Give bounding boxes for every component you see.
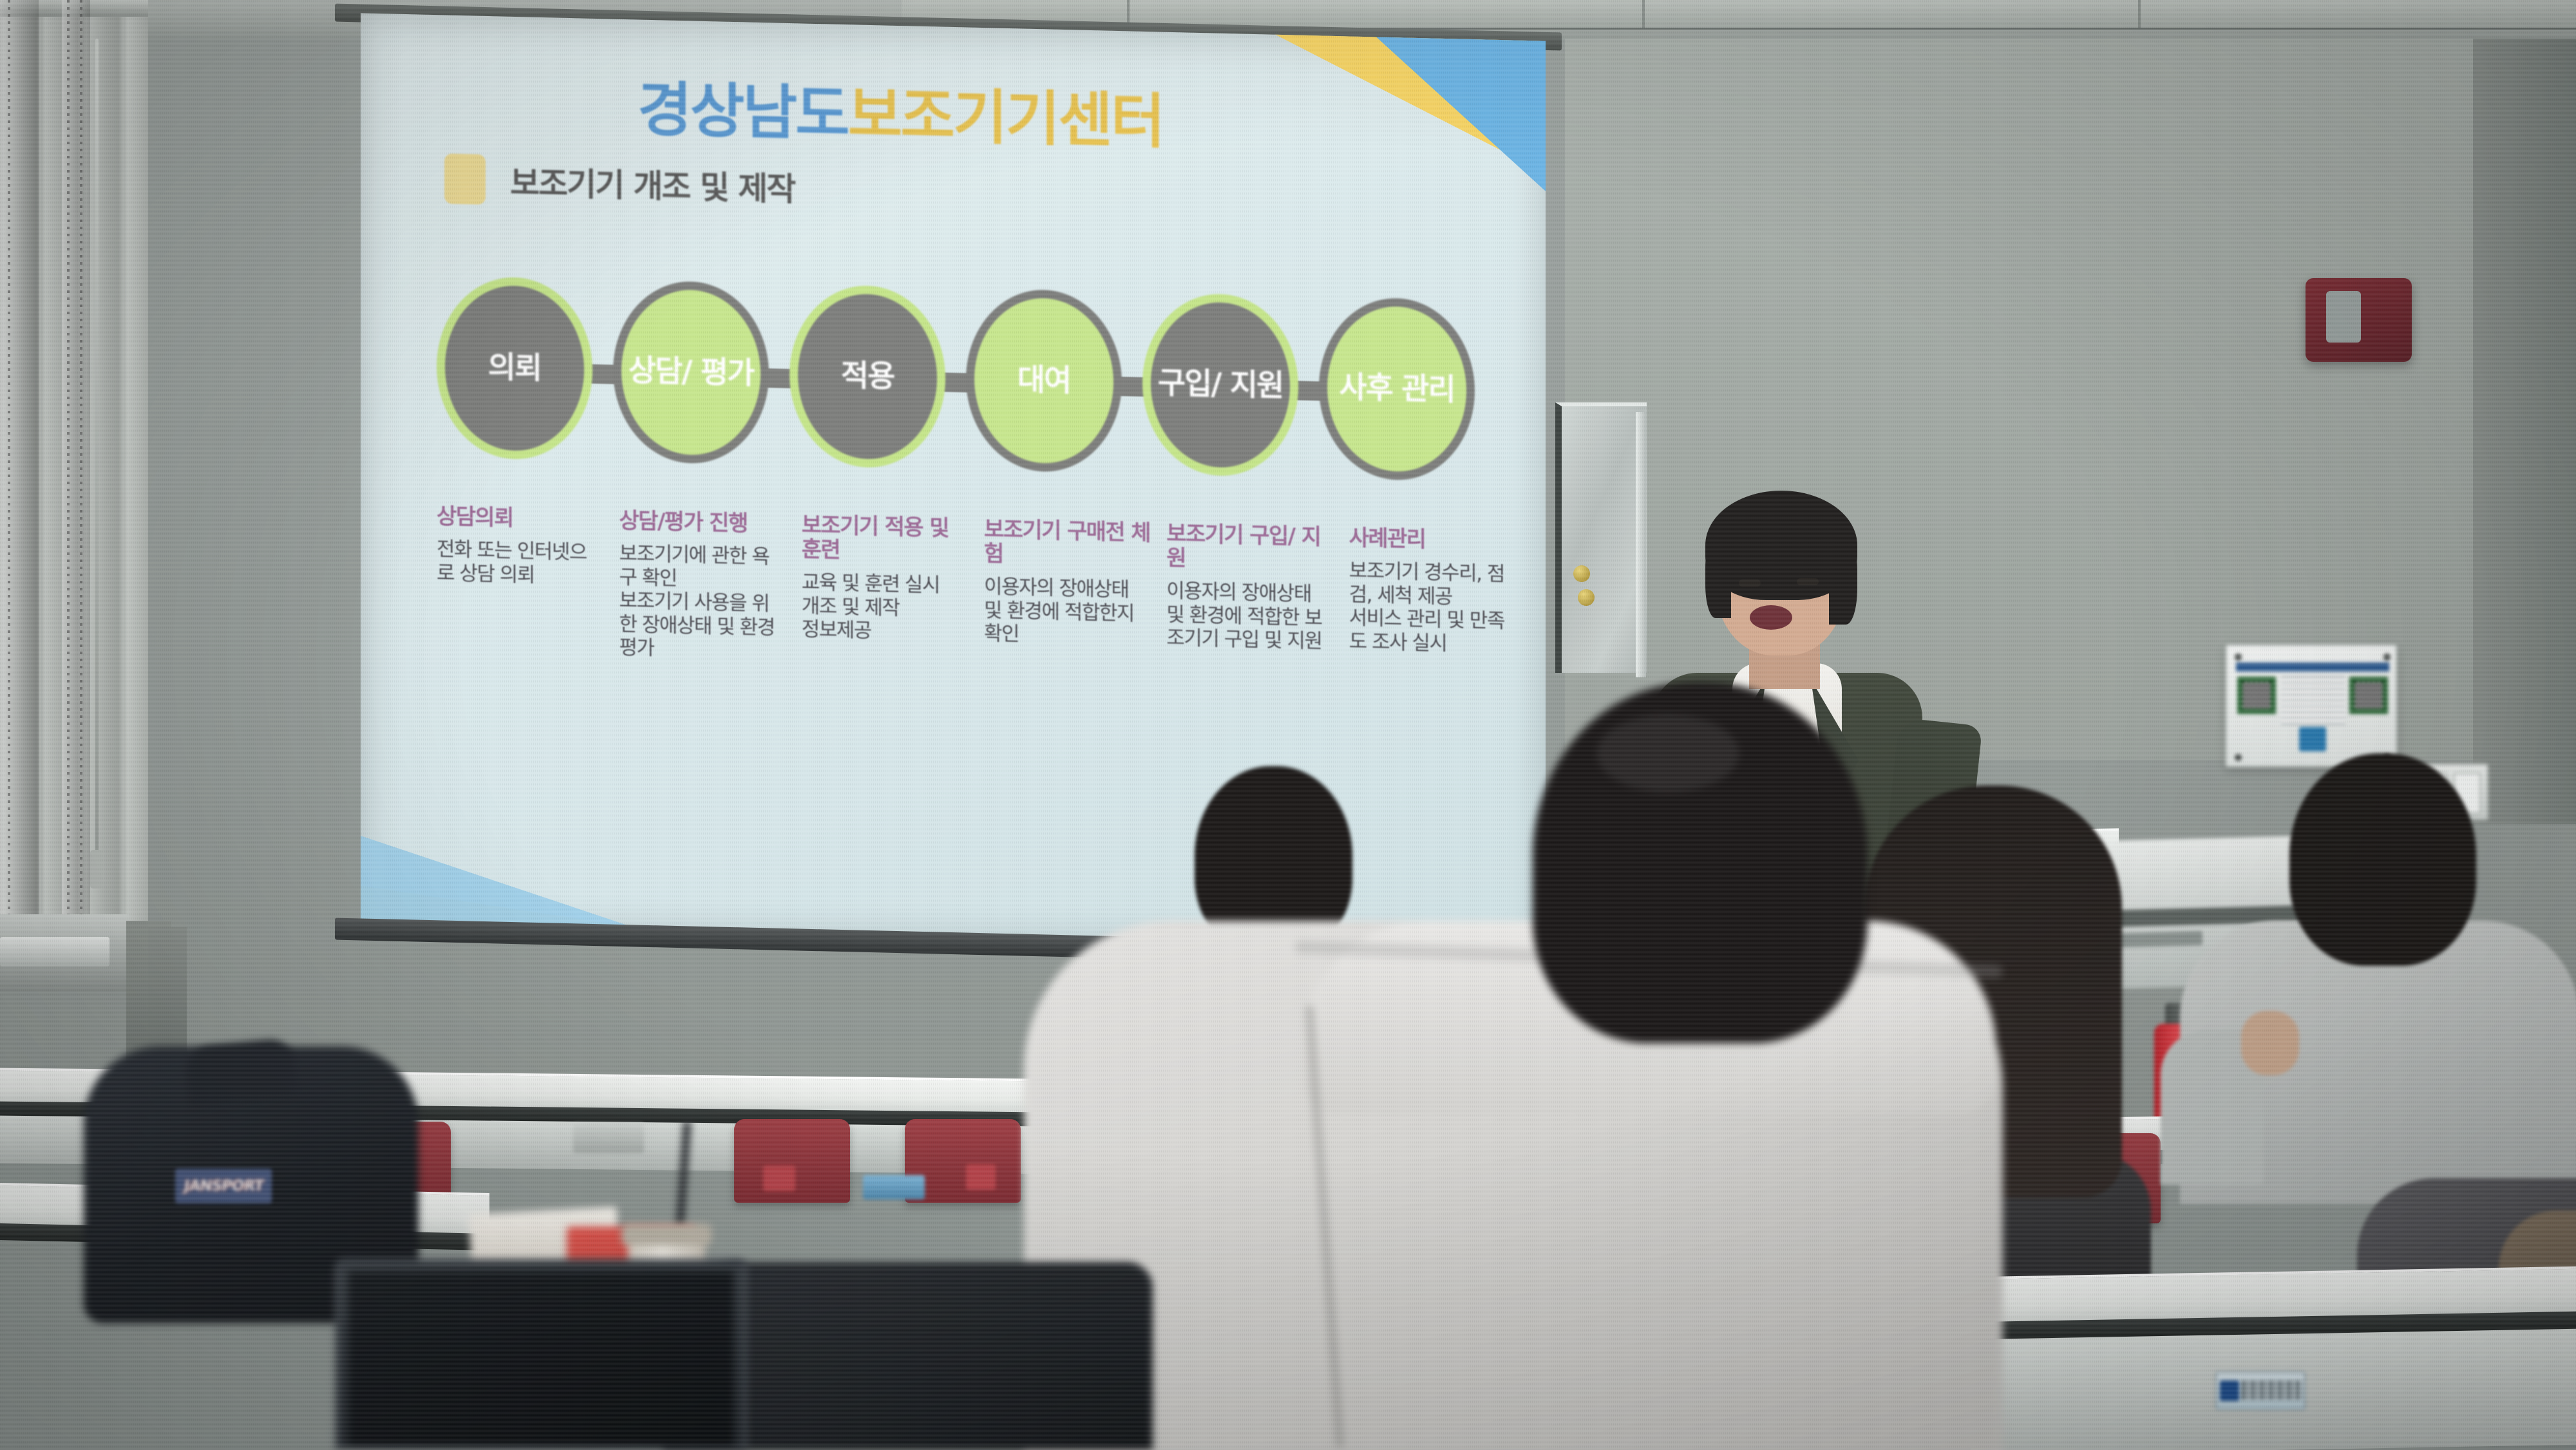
backpack-brand-text: JANSPORT <box>183 1178 264 1194</box>
barcode-icon <box>2242 1380 2302 1400</box>
column-body: 보조기기 경수리, 점 검, 세척 제공 서비스 관리 및 만족 도 조사 실시 <box>1349 560 1520 658</box>
sign-logo-icon <box>2299 727 2326 751</box>
slide-detail-columns: 상담의뢰 전화 또는 인터넷으 로 상담 의뢰 상담/평가 진행 보조기기에 관… <box>437 504 1531 681</box>
qr-code-icon <box>2349 677 2388 714</box>
qr-code-icon <box>2237 677 2276 714</box>
pen-tray[interactable] <box>573 1124 644 1153</box>
blind-pull-cord[interactable] <box>95 39 99 869</box>
detail-column: 사례관리 보조기기 경수리, 점 검, 세척 제공 서비스 관리 및 만족 도 … <box>1349 525 1531 681</box>
bullet-square-icon <box>444 153 486 205</box>
slide-title-center: 보조기기센터 <box>848 80 1164 156</box>
door-knob[interactable] <box>1578 589 1595 606</box>
detail-column: 상담의뢰 전화 또는 인터넷으 로 상담 의뢰 <box>437 504 619 660</box>
column-heading: 보조기기 구매전 체험 <box>984 517 1155 570</box>
whiteboard <box>1555 402 1647 673</box>
column-heading: 상담/평가 진행 <box>619 509 790 537</box>
asset-logo-icon <box>2220 1380 2239 1401</box>
small-red-item[interactable] <box>763 1165 795 1191</box>
student-head <box>2289 753 2476 966</box>
presenter-eye <box>1739 579 1761 587</box>
laptop[interactable] <box>335 1259 747 1450</box>
process-flow-diagram: 의뢰 상담/ 평가 적용 대여 구입/ 지원 사후 관리 <box>437 276 1480 487</box>
small-blue-item[interactable] <box>863 1175 925 1200</box>
detail-column: 보조기기 구매전 체험 이용자의 장애상태 및 환경에 적합한지 확인 <box>984 517 1166 673</box>
window-blinds <box>0 0 148 946</box>
column-body: 이용자의 장애상태 및 환경에 적합한 보 조기기 구입 및 지원 <box>1166 579 1337 654</box>
slide-subtitle-row: 보조기기 개조 및 제작 <box>444 153 795 212</box>
screw-icon <box>2235 754 2242 761</box>
blind-perforations <box>80 0 82 946</box>
flow-node-1: 의뢰 <box>437 276 592 461</box>
presenter-hair-side <box>1829 534 1857 625</box>
presenter-mouth <box>1750 605 1792 630</box>
qr-code-notice-sign <box>2225 644 2398 767</box>
fire-alarm-lever-icon <box>2326 291 2361 343</box>
blind-perforations <box>67 0 70 946</box>
blind-cord-weight[interactable] <box>90 850 103 889</box>
projection-screen: 경상남도보조기기센터 보조기기 개조 및 제작 의뢰 상담/ 평가 적용 대여 … <box>361 13 1546 955</box>
column-body: 이용자의 장애상태 및 환경에 적합한지 확인 <box>984 575 1155 650</box>
student-hand <box>2241 1011 2299 1075</box>
detail-column: 상담/평가 진행 보조기기에 관한 욕 구 확인 보조기기 사용을 위 한 장애… <box>619 509 801 664</box>
flow-node-3: 적용 <box>790 284 945 469</box>
sign-text-block <box>2281 677 2345 724</box>
small-red-item[interactable] <box>966 1164 996 1190</box>
column-body: 교육 및 훈련 실시 개조 및 제작 정보제공 <box>802 571 972 646</box>
backpack-strap <box>184 1037 299 1106</box>
blind-slat <box>0 0 39 946</box>
shelf-item <box>0 937 109 966</box>
hair-highlight <box>1597 715 1739 792</box>
right-wall <box>1565 0 2576 760</box>
column-body: 전화 또는 인터넷으 로 상담 의뢰 <box>437 538 607 588</box>
barcode-asset-tag <box>2215 1371 2306 1410</box>
column-heading: 보조기기 적용 및 훈련 <box>802 513 972 565</box>
column-heading: 사례관리 <box>1349 525 1520 554</box>
presenter-hair-side <box>1705 534 1731 618</box>
blind-slat <box>62 0 90 946</box>
far-right-wall-edge <box>2473 0 2576 824</box>
sign-header-bar <box>2236 663 2389 672</box>
presenter-eye <box>1797 578 1819 585</box>
ceiling-tile-seam <box>1642 0 1645 30</box>
ceiling-tile-seam <box>2138 0 2141 30</box>
fire-alarm-pull-station[interactable] <box>2306 278 2412 362</box>
blind-perforations <box>8 0 10 946</box>
slide-subtitle: 보조기기 개조 및 제작 <box>510 157 795 210</box>
detail-column: 보조기기 구입/ 지원 이용자의 장애상태 및 환경에 적합한 보 조기기 구입… <box>1166 522 1349 677</box>
slide-title: 경상남도보조기기센터 <box>638 61 1163 159</box>
cup-lid <box>621 1223 712 1245</box>
column-heading: 상담의뢰 <box>437 504 607 532</box>
flow-node-2: 상담/ 평가 <box>613 280 769 466</box>
flow-node-5: 구입/ 지원 <box>1142 292 1298 478</box>
whiteboard-trim <box>1636 412 1646 677</box>
flow-node-4: 대여 <box>966 288 1122 473</box>
door-knob[interactable] <box>1573 565 1590 582</box>
screw-icon <box>2235 654 2242 661</box>
detail-column: 보조기기 적용 및 훈련 교육 및 훈련 실시 개조 및 제작 정보제공 <box>802 513 984 668</box>
screw-icon <box>2383 654 2391 661</box>
column-body: 보조기기에 관한 욕 구 확인 보조기기 사용을 위 한 장애상태 및 환경 평… <box>619 542 790 664</box>
column-heading: 보조기기 구입/ 지원 <box>1166 522 1337 574</box>
lecture-hall-photo: 경상남도보조기기센터 보조기기 개조 및 제작 의뢰 상담/ 평가 적용 대여 … <box>0 0 2576 1450</box>
slide-title-region: 경상남도 <box>638 75 848 149</box>
flow-node-6: 사후 관리 <box>1319 296 1475 482</box>
laptop-screen <box>348 1271 734 1447</box>
backpack-brand-logo: JANSPORT <box>175 1169 272 1203</box>
